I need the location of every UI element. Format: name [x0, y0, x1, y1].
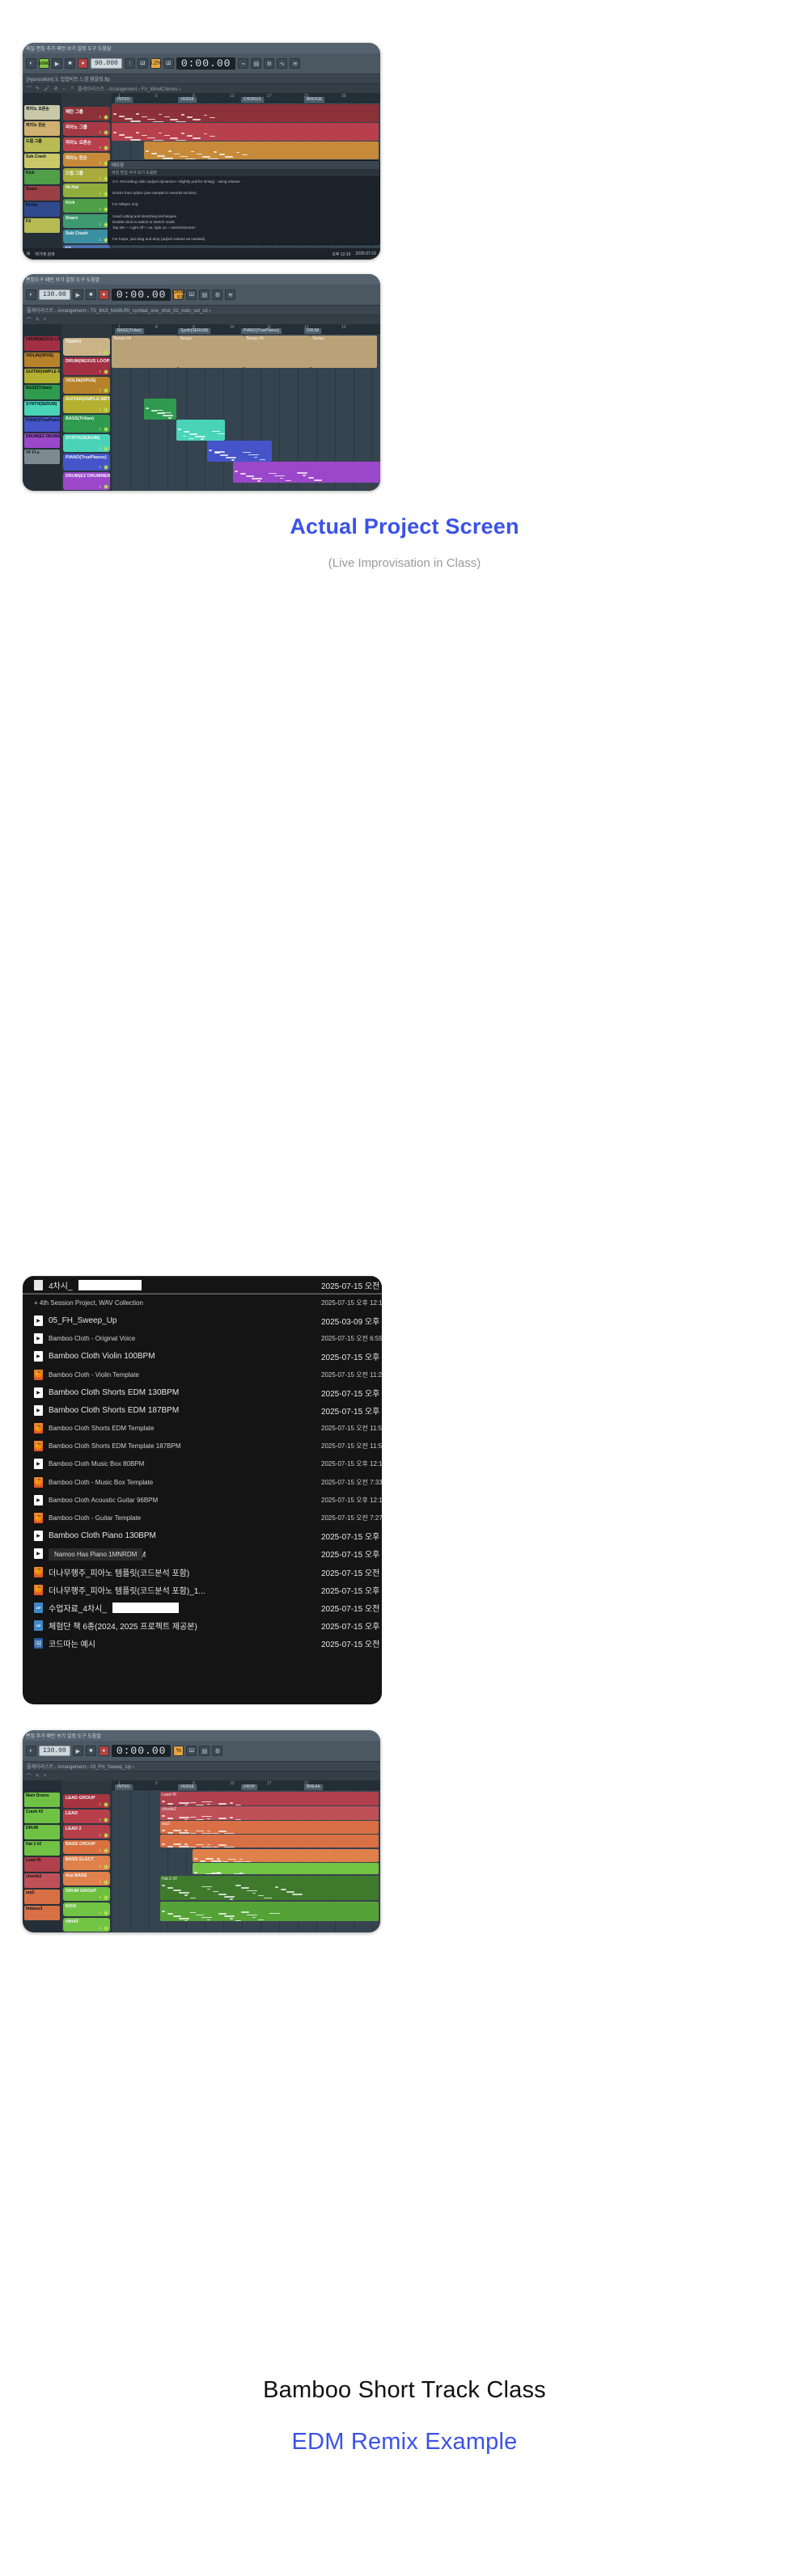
track-enable-led[interactable]	[104, 1927, 108, 1930]
channel-strip[interactable]: Main Drums	[24, 1793, 60, 1807]
track-enable-led[interactable]	[104, 485, 108, 488]
channel-label: Snare	[26, 187, 37, 192]
transport-bar-2[interactable]: ◐ 130.00 ▶ ■ ● 0:00.00 ORM 1.93 Ш ▤ ⚙ ≋	[23, 285, 380, 306]
arrangement-clip[interactable]: Lead #5	[160, 1792, 379, 1805]
png-file-icon: 🖼	[34, 1638, 43, 1649]
file-date-cell: 2025-07-15 오전 7:27	[321, 1514, 382, 1522]
taskbar-clock[interactable]: 오후 12:16	[332, 251, 350, 257]
track-enable-led[interactable]	[104, 146, 108, 150]
channel-label: PIANO(TruePianos)	[26, 418, 60, 423]
channel-label: Hat 2 #2	[26, 1842, 41, 1847]
arrangement-clip[interactable]	[193, 1849, 379, 1862]
song-mode-button[interactable]: SONG	[39, 58, 49, 69]
metronome-icon[interactable]: ↑	[125, 58, 135, 69]
clip-note-preview	[207, 446, 272, 461]
arrangement-clip[interactable]	[233, 462, 380, 483]
channel-strip[interactable]: Snare	[24, 186, 60, 201]
music-note-icon: ♪	[99, 238, 101, 243]
browser-icon[interactable]: ▤	[251, 58, 261, 69]
file-explorer-list[interactable]: 4차시_2025-07-15 오전 11:59Text Document23KB…	[23, 1276, 382, 1704]
file-row[interactable]: 🍊Bamboo Cloth Shorts EDM Template2025-07…	[23, 1420, 382, 1438]
notepad-title: 메모장	[112, 162, 124, 168]
zoom-icon-3[interactable]: ⌕	[44, 1773, 46, 1779]
file-row[interactable]: + 4th Session Project, WAV Collection202…	[23, 1294, 382, 1311]
windows-taskbar-1[interactable]: ⊞ 여기에 검색 오후 12:16 2025-07-15	[23, 248, 380, 260]
tempo-display[interactable]: 90.000	[91, 58, 122, 69]
track-header[interactable]: GUITAR(AMPLE METAL)♪	[63, 395, 110, 413]
track-enable-led[interactable]	[104, 1849, 108, 1852]
daw-screenshot-3: 편집 추가 패턴 보기 설정 도구 도움말 ◐ 130.00 ▶ ■ ● 0:0…	[23, 1730, 380, 1932]
channel-strip[interactable]: Kick	[24, 170, 60, 184]
track-header-label: DRUM GROUP	[66, 1889, 96, 1894]
zoom-icon-2[interactable]: ⌕	[44, 317, 46, 323]
arrangement-marker[interactable]: BASS(Trilian)	[115, 328, 145, 334]
music-note-icon: ♪	[99, 1818, 101, 1822]
arrangement-marker[interactable]: Synth(SERUM)	[178, 328, 211, 334]
file-row[interactable]: 🍊Bamboo Cloth - Music Box Template2025-0…	[23, 1473, 382, 1491]
file-name-cell[interactable]: Bamboo Cloth Shorts EDM 187BPM	[34, 1405, 321, 1416]
track-header[interactable]: Snare♪	[63, 214, 110, 228]
track-header[interactable]: Sub Crash♪	[63, 230, 110, 243]
channel-strip[interactable]: chords2	[24, 1873, 60, 1888]
file-name-cell[interactable]: 수업자료_4차시_	[34, 1602, 321, 1614]
arrangement-marker[interactable]: INTRO	[115, 97, 133, 103]
file-row[interactable]: Bamboo Cloth Shorts EDM 130BPM2025-07-15…	[23, 1383, 382, 1401]
file-row[interactable]: Bamboo Cloth Music Box 80BPM2025-07-15 오…	[23, 1455, 382, 1473]
arrangement-clip[interactable]	[112, 123, 379, 141]
arrangement-clip[interactable]: chords2	[160, 1806, 379, 1820]
arrangement-clip[interactable]	[207, 441, 272, 462]
arrangement-clip[interactable]	[144, 141, 379, 159]
track-enable-led[interactable]	[104, 447, 108, 450]
track-header[interactable]: LEAD 2♪	[63, 1825, 110, 1839]
file-row[interactable]: Bamboo Cloth Acoustic Guitar 96BPM2025-0…	[23, 1491, 382, 1509]
flp-file-icon: 🍊	[34, 1585, 43, 1595]
track-header-label: KICK	[66, 1904, 76, 1909]
arrangement-2[interactable]: 78910111213BASS(Trilian)Synth(SERUM)PIAN…	[112, 324, 380, 491]
arrangement-marker[interactable]: DROP	[241, 1784, 258, 1790]
arrangement-clip[interactable]	[193, 1863, 379, 1874]
channel-strip[interactable]: Hi-Hat	[24, 202, 60, 217]
file-row[interactable]: 체험단 책 6종(2024, 2025 프로젝트 제공본)2025-07-15 …	[23, 1617, 382, 1635]
music-note-icon: ♪	[99, 1911, 101, 1915]
file-name-label: 더나무행주_피아노 템플릿(코드분석 포함)	[49, 1566, 189, 1578]
file-name-label: Bamboo Cloth - Music Box Template	[49, 1479, 153, 1486]
file-row[interactable]: 🍊Bamboo Cloth - Violin Template2025-07-1…	[23, 1366, 382, 1383]
channel-strip[interactable]: VF Fl.o	[24, 450, 60, 464]
file-date-cell: 2025-07-15 오후 12:16	[321, 1496, 382, 1505]
playlist-breadcrumb-1[interactable]: ⌒ ✎ 🖌 ⊘ ↔ ⌕ 플레이리스트 - Arrangement › FX_Wi…	[23, 84, 380, 93]
track-header[interactable]: Arp BASS♪	[63, 1872, 110, 1886]
tempo-display-3[interactable]: 130.00	[39, 1746, 70, 1756]
stop-button[interactable]: ■	[65, 58, 75, 69]
stop-button-3[interactable]: ■	[86, 1746, 96, 1756]
track-header[interactable]: KICK♪	[63, 1902, 110, 1916]
file-name-cell[interactable]: 🍊더나무행주_피아노 템플릿(코드분석 포함)	[34, 1566, 321, 1578]
file-name-cell[interactable]: 🍊더나무행주_피아노 템플릿(코드분석 포함)_1...	[34, 1584, 321, 1596]
pattern-mode-icon[interactable]: ◐	[26, 58, 36, 69]
zip-file-icon	[34, 1620, 43, 1631]
channel-strip[interactable]: GUITAR(AMPLE METAL)	[24, 369, 60, 383]
file-date-cell: 2025-07-15 오후 12:16	[321, 1350, 382, 1362]
channel-strip[interactable]: BASS(Trilian)	[24, 385, 60, 399]
clip-note-preview	[160, 1812, 379, 1819]
file-name-cell[interactable]: Bamboo Cloth Piano 130BPM	[34, 1531, 321, 1541]
file-name-label: Bamboo Cloth Shorts EDM 187BPM	[49, 1406, 179, 1415]
pattern-mode-icon-2[interactable]: ◐	[26, 289, 36, 300]
caption-edm-remix-example: EDM Remix Example	[0, 2429, 809, 2456]
channel-strip[interactable]: 드럼 그룹	[24, 137, 60, 152]
music-note-icon: ♪	[99, 1880, 101, 1885]
record-button-3[interactable]: ●	[99, 1746, 109, 1756]
notepad-window[interactable]: 메모장 파일 편집 서식 보기 도움말 3-2. Recording violi…	[108, 160, 380, 245]
channel-strip[interactable]: 피아노 왼손	[24, 121, 60, 136]
channel-strip[interactable]: 피아노 오른손	[24, 105, 60, 120]
project-title-2: 플레이리스트 - Arrangement › TS_IMJI_MABURI_cy…	[27, 306, 210, 314]
file-row[interactable]: Bamboo Cloth - Original Voice2025-07-15 …	[23, 1330, 382, 1348]
arrangement-clip[interactable]	[176, 420, 225, 441]
track-enable-led[interactable]	[104, 351, 108, 354]
track-enable-led[interactable]	[104, 116, 108, 119]
file-name-cell[interactable]: 🍊Bamboo Cloth Shorts EDM Template	[34, 1423, 321, 1434]
file-name-cell[interactable]: Bamboo Cloth Violin 100BPM	[34, 1351, 321, 1362]
time-display-1: 0:00.00	[176, 57, 236, 70]
tempo-display-2[interactable]: 130.00	[39, 289, 70, 300]
file-name-cell[interactable]: Bamboo Cloth Acoustic Guitar 96BPM	[34, 1495, 321, 1505]
mixer-icon[interactable]: Ш	[163, 58, 174, 69]
magnet-icon[interactable]: ⌒	[27, 85, 32, 92]
arrangement-clip[interactable]: Hat 2 #2	[160, 1876, 379, 1900]
track-header[interactable]: 피아노 오른손♪	[63, 137, 110, 151]
track-header-label: DRUM(NEXUS LOOP)	[66, 359, 110, 364]
track-header[interactable]: BASS ELECT♪	[63, 1856, 110, 1869]
music-note-icon: ♪	[99, 465, 101, 470]
arrangement-clip[interactable]: Tempo #4	[112, 336, 178, 368]
menubar-labels: 파일 편집 추가 패턴 보기 설정 도구 도움말	[26, 44, 112, 52]
file-name-cell[interactable]: 체험단 책 6종(2024, 2025 프로젝트 제공본)	[34, 1620, 321, 1632]
plugin-icon[interactable]: ⚙	[264, 58, 274, 69]
channel-strip[interactable]: arp2	[24, 1890, 60, 1904]
caption-live-improvisation: (Live Improvisation in Class)	[0, 556, 809, 570]
file-date-cell: 2025-07-15 오후 12:03	[321, 1584, 382, 1596]
music-note-icon: ♪	[99, 1864, 101, 1869]
notepad-line	[112, 184, 375, 190]
channel-rack-1[interactable]: 피아노 오른손피아노 왼손드럼 그룹Sub CrashKickSnareHi-H…	[23, 93, 61, 260]
menubar-3[interactable]: 편집 추가 패턴 보기 설정 도구 도움말	[23, 1730, 380, 1741]
fx-icon[interactable]: ∿	[277, 58, 287, 69]
track-enable-led[interactable]	[104, 466, 108, 469]
clip-note-preview	[144, 404, 176, 419]
timeline-ruler-3[interactable]: 159131721INTROVERSEDROPBREAK	[112, 1780, 380, 1790]
arrangement-marker[interactable]: VERSE	[178, 97, 197, 103]
piano-roll-icon[interactable]: Ш	[138, 58, 148, 69]
wave-icon-2[interactable]: ≋	[225, 289, 235, 300]
channel-rack-2[interactable]: DRUM(NEXUS LOOP)VIOLIN(OPUS)GUITAR(AMPLE…	[23, 324, 61, 491]
music-note-icon: ♪	[99, 446, 101, 451]
track-header[interactable]: BASS(Trilian)♪	[63, 415, 110, 433]
arrangement-clip[interactable]: arp2	[160, 1821, 379, 1834]
music-note-icon: ♪	[99, 1926, 101, 1931]
channel-rack-3[interactable]: Main DrumsCrash #2DRUMHat 2 #2Lead #5cho…	[23, 1780, 61, 1932]
track-header[interactable]: TEMPO♪	[63, 338, 110, 356]
pencil-icon[interactable]: ✎	[36, 86, 40, 91]
arrangement-clip[interactable]	[112, 104, 379, 122]
clip-label: Tempo	[312, 336, 324, 341]
snap-icon[interactable]: ⌁	[238, 58, 248, 69]
arrangement-clip[interactable]	[144, 399, 176, 420]
music-note-icon: ♪	[99, 427, 101, 432]
gear-icon-3[interactable]: ⚙	[212, 1746, 222, 1756]
file-row[interactable]: 🍊Bamboo Cloth - Guitar Template2025-07-1…	[23, 1509, 382, 1527]
channel-strip[interactable]: PIANO(TruePianos)	[24, 417, 60, 432]
browser-icon-2[interactable]: ▤	[199, 289, 210, 300]
track-header[interactable]: DRUM(NEXUS LOOP)♪	[63, 357, 110, 375]
channel-label: Lead #5	[26, 1858, 41, 1863]
menubar-2[interactable]: 편집도구 패턴 보기 설정 도구 도움말	[23, 274, 380, 285]
track-enable-led[interactable]	[104, 428, 108, 431]
file-row[interactable]: Bamboo Cloth Violin 100BPM2025-07-15 오후 …	[23, 1348, 382, 1366]
music-note-icon: ♪	[99, 408, 101, 412]
file-date-cell: 2025-07-15 오전 11:21	[321, 1370, 382, 1379]
play-button-2[interactable]: ▶	[73, 289, 83, 300]
browser-icon-3[interactable]: ▤	[199, 1746, 210, 1756]
file-date-cell: 2025-07-15 오후 12:13	[321, 1548, 382, 1560]
track-header[interactable]: LEAD♪	[63, 1810, 110, 1823]
wav-file-icon	[34, 1548, 43, 1559]
channel-label: Hi-Hat	[26, 203, 38, 208]
music-note-icon: ♪	[99, 130, 101, 135]
daw-screenshot-1: 파일 편집 추가 패턴 보기 설정 도구 도움말 ◐ SONG ▶ ■ ● 90…	[23, 43, 380, 260]
notepad-line: Tap left — Light off + cut, light on = s…	[112, 225, 375, 230]
mute-icon[interactable]: ⊘	[54, 86, 58, 91]
file-name-cell[interactable]: Bamboo Cloth Music Box 80BPM	[34, 1459, 321, 1469]
menubar-1[interactable]: 파일 편집 추가 패턴 보기 설정 도구 도움말	[23, 43, 380, 53]
track-enable-led[interactable]	[104, 1896, 108, 1899]
track-headers-1[interactable]: 패턴 그룹♪피아노 그룹♪피아노 오른손♪피아노 왼손♪드럼 그룹♪Hi-Hat…	[61, 93, 112, 260]
arrangement-clip[interactable]	[160, 1835, 379, 1848]
track-enable-led[interactable]	[104, 370, 108, 374]
channel-strip[interactable]: DRUM(EZ DRUMMER3)	[24, 433, 60, 448]
clip-note-preview	[160, 1907, 379, 1920]
track-header[interactable]: HIHAT♪	[63, 1918, 110, 1932]
channel-label: DRUM	[26, 1826, 38, 1831]
track-headers-3[interactable]: LEAD GROUP♪LEAD♪LEAD 2♪BASS GROUP♪BASS E…	[61, 1780, 112, 1932]
arrangement-clip[interactable]: Tempo	[178, 336, 244, 368]
clip-label: Tempo #4	[113, 336, 131, 341]
track-header[interactable]: 피아노 왼손♪	[63, 153, 110, 167]
wav-file-icon	[34, 1495, 43, 1505]
magnet-icon-2[interactable]: ⌒	[27, 316, 32, 323]
file-name-cell[interactable]: 🍊Bamboo Cloth - Guitar Template	[34, 1513, 321, 1523]
track-header-label: 드럼 그룹	[66, 171, 83, 176]
file-name-label: Bamboo Cloth Shorts EDM Template 187BPM	[49, 1442, 180, 1450]
track-enable-led[interactable]	[104, 1803, 108, 1806]
file-row[interactable]: 🍊더나무행주_피아노 템플릿(코드분석 포함)2025-07-15 오전 10:…	[23, 1563, 382, 1581]
music-note-icon: ♪	[99, 370, 101, 374]
timeline-ruler-2[interactable]: 78910111213BASS(Trilian)Synth(SERUM)PIAN…	[112, 324, 380, 334]
track-enable-led[interactable]	[104, 1911, 108, 1915]
paint-icon[interactable]: 🖌	[44, 86, 50, 91]
file-name-label: Bamboo Cloth Shorts EDM Template	[49, 1425, 155, 1432]
notepad-menubar[interactable]: 파일 편집 서식 보기 도움말	[108, 169, 379, 176]
channel-strip[interactable]: SYNTH(SERUM)	[24, 401, 60, 416]
play-button[interactable]: ▶	[52, 58, 62, 69]
record-button-2[interactable]: ●	[99, 289, 109, 300]
transport-bar-3[interactable]: ◐ 130.00 ▶ ■ ● 0:00.00 % Ш ▤ ⚙	[23, 1741, 380, 1762]
arrangement-marker[interactable]: VERSE	[178, 1784, 197, 1790]
file-name-label: 4차시_	[49, 1279, 73, 1291]
file-date-cell: 2025-03-09 오후 3:57	[321, 1315, 382, 1327]
breadcrumb-1: 플레이리스트 - Arrangement › FX_WindChimes ›	[78, 85, 180, 92]
notepad-line: Double-click to switch to stretch mode	[112, 219, 375, 225]
channel-label: Kick	[26, 171, 35, 175]
ruler-tick: 8	[155, 325, 158, 330]
wav-file-icon	[34, 1531, 43, 1541]
play-button-3[interactable]: ▶	[73, 1746, 83, 1756]
notepad-line: 3-2. Recording violin (adjust dynamics—s…	[112, 179, 375, 184]
slip-icon[interactable]: ↔	[62, 87, 67, 91]
magnet-icon-3[interactable]: ⌒	[27, 1772, 32, 1780]
arrangement-marker[interactable]: BREAK	[304, 1784, 324, 1790]
channel-label: DRUM(NEXUS LOOP)	[26, 337, 60, 342]
notepad-titlebar[interactable]: 메모장	[108, 161, 379, 169]
channel-strip[interactable]: Hat 2 #2	[24, 1841, 60, 1856]
track-enable-led[interactable]	[104, 408, 108, 412]
mixer-icon-3[interactable]: Ш	[186, 1746, 197, 1756]
track-header-label: DRUM(EZ DRUMMER3)	[66, 474, 110, 479]
transport-bar-1[interactable]: ◐ SONG ▶ ■ ● 90.000 ↑ Ш 3.2% Ш 0:00.00 ⌁…	[23, 53, 380, 74]
music-note-icon: ♪	[99, 484, 101, 489]
track-header[interactable]: PIANO(TruePianos)♪	[63, 454, 110, 471]
start-icon[interactable]: ⊞	[27, 251, 30, 256]
channel-label: DRUM(EZ DRUMMER3)	[26, 434, 60, 439]
file-name-cell[interactable]: + 4th Session Project, WAV Collection	[34, 1299, 321, 1307]
channel-strip[interactable]: Crash #2	[24, 1809, 60, 1823]
track-enable-led[interactable]	[104, 1834, 108, 1837]
wave-icon[interactable]: ≋	[290, 58, 300, 69]
caption-bamboo-short-track-class: Bamboo Short Track Class	[0, 2377, 809, 2404]
track-header[interactable]: VIOLIN(OPUS)♪	[63, 377, 110, 395]
track-header[interactable]: Kick♪	[63, 199, 110, 213]
track-enable-led[interactable]	[104, 1881, 108, 1884]
pencil-icon-3[interactable]: ✎	[36, 1773, 40, 1779]
arrangement-marker[interactable]: DRUM	[304, 328, 322, 334]
track-header[interactable]: BASS GROUP♪	[63, 1840, 110, 1854]
taskbar-search[interactable]: 여기에 검색	[35, 251, 54, 257]
file-date-cell: 2025-07-15 오후 12:16	[321, 1404, 382, 1417]
wav-file-icon	[34, 1333, 43, 1344]
file-row[interactable]: 🖼코드따는 예시2025-07-15 오전 7:37PNG 파일701KB	[23, 1635, 382, 1653]
channel-strip[interactable]: DRUM(NEXUS LOOP)	[24, 336, 60, 351]
file-row[interactable]: Bamboo Cloth Shorts EDM 187BPM2025-07-15…	[23, 1401, 382, 1419]
file-row[interactable]: 수업자료_4차시_2025-07-15 오전 10:13압축(ZIP) 파일18…	[23, 1598, 382, 1616]
file-name-cell[interactable]: 🍊Bamboo Cloth - Music Box Template	[34, 1477, 321, 1488]
file-name-label: 더나무행주_피아노 템플릿(코드분석 포함)_1...	[49, 1584, 205, 1596]
track-header-label: 피아노 오른손	[66, 141, 91, 146]
file-row[interactable]: Bamboo Cloth Piano 130BPM2025-07-15 오후 1…	[23, 1527, 382, 1545]
arrangement-marker[interactable]: BRIDGE	[304, 97, 325, 103]
arrangement-marker[interactable]: INTRO	[115, 1784, 133, 1790]
zoom-icon[interactable]: ⌕	[71, 86, 74, 91]
channel-strip[interactable]: DRUM	[24, 1825, 60, 1839]
clip-note-preview	[160, 1826, 379, 1833]
arrangement-marker[interactable]: CHORUS	[241, 97, 265, 103]
track-enable-led[interactable]	[104, 1865, 108, 1869]
file-name-label: + 4th Session Project, WAV Collection	[34, 1299, 143, 1307]
file-date-cell: 2025-07-15 오후 12:13	[321, 1459, 382, 1468]
gear-icon-2[interactable]: ⚙	[212, 289, 222, 300]
stop-button-2[interactable]: ■	[86, 289, 96, 300]
arrangement-clip[interactable]	[160, 1902, 379, 1921]
mixer-icon-2[interactable]: Ш	[186, 289, 197, 300]
track-header[interactable]: 드럼 그룹♪	[63, 168, 110, 182]
channel-strip[interactable]: FX	[24, 218, 60, 233]
track-header[interactable]: DRUM GROUP♪	[63, 1887, 110, 1901]
pattern-mode-icon-3[interactable]: ◐	[26, 1746, 36, 1756]
record-button[interactable]: ●	[78, 58, 88, 69]
channel-strip[interactable]: Sub Crash	[24, 154, 60, 168]
arrangement-3[interactable]: 159131721INTROVERSEDROPBREAK Lead #5chor…	[112, 1780, 380, 1932]
file-row[interactable]: 🍊더나무행주_피아노 템플릿(코드분석 포함)_1...2025-07-15 오…	[23, 1581, 382, 1598]
file-row[interactable]: 4차시_2025-07-15 오전 11:59Text Document23KB	[23, 1276, 382, 1294]
clip-note-preview	[176, 425, 225, 440]
file-name-cell[interactable]: 05_FH_Sweep_Up	[34, 1315, 321, 1326]
arrangement-clip[interactable]: Tempo #5	[244, 336, 311, 368]
music-note-icon: ♪	[99, 350, 101, 355]
track-enable-led[interactable]	[104, 1818, 108, 1822]
file-date-cell: 2025-07-15 오후 12:01	[321, 1620, 382, 1632]
track-header[interactable]: 피아노 그룹♪	[63, 122, 110, 136]
file-row[interactable]: 05_FH_Sweep_Up2025-03-09 오후 3:57WAV File…	[23, 1311, 382, 1329]
channel-strip[interactable]: VIOLIN(OPUS)	[24, 353, 60, 367]
track-header[interactable]: Hi-Hat♪	[63, 184, 110, 197]
playlist-toolbar-3[interactable]: ⌒ ✎ ⌕	[23, 1772, 380, 1780]
file-name-cell[interactable]: Bamboo Cloth Shorts EDM 130BPM	[34, 1387, 321, 1398]
track-header[interactable]: DRUM(EZ DRUMMER3)♪	[63, 472, 110, 490]
playlist-toolbar-2[interactable]: ⌒ ✎ ⌕	[23, 315, 380, 324]
file-row[interactable]: 🍊Bamboo Cloth Shorts EDM Template 187BPM…	[23, 1438, 382, 1455]
wav-file-icon	[34, 1459, 43, 1469]
arrangement-marker[interactable]: PIANO(TruePianos)	[241, 328, 282, 334]
txt-file-icon	[34, 1280, 43, 1290]
music-note-icon: ♪	[99, 161, 101, 166]
track-header[interactable]: LEAD GROUP♪	[63, 1794, 110, 1808]
file-name-cell[interactable]: 🍊Bamboo Cloth - Violin Template	[34, 1370, 321, 1380]
track-header[interactable]: SYNTH(SERUM)♪	[63, 434, 110, 452]
track-enable-led[interactable]	[104, 389, 108, 392]
zip-file-icon	[34, 1603, 43, 1613]
channel-strip[interactable]: Lead #5	[24, 1857, 60, 1872]
track-header[interactable]: 패턴 그룹♪	[63, 107, 110, 120]
wav-file-icon	[34, 1351, 43, 1362]
channel-strip[interactable]: fmbass3	[24, 1906, 60, 1920]
file-name-cell[interactable]: Bamboo Cloth - Original Voice	[34, 1333, 321, 1344]
arrangement-clip[interactable]: Tempo	[311, 336, 377, 368]
redaction-block	[78, 1280, 142, 1290]
track-enable-led[interactable]	[104, 131, 108, 134]
pencil-icon-2[interactable]: ✎	[36, 317, 40, 323]
music-note-icon: ♪	[99, 146, 101, 150]
wav-file-icon	[34, 1405, 43, 1416]
file-name-cell[interactable]: 4차시_	[34, 1279, 321, 1291]
music-note-icon: ♪	[99, 1802, 101, 1807]
redaction-block	[112, 1603, 179, 1613]
timeline-ruler-1[interactable]: 15913172125INTROVERSECHORUSBRIDGE	[112, 93, 380, 103]
file-name-cell[interactable]: 🍊Bamboo Cloth Shorts EDM Template 187BPM	[34, 1441, 321, 1451]
file-name-cell[interactable]: 🖼코드따는 예시	[34, 1637, 321, 1649]
channel-label: BASS(Trilian)	[26, 386, 52, 391]
track-headers-2[interactable]: TEMPO♪DRUM(NEXUS LOOP)♪VIOLIN(OPUS)♪GUIT…	[61, 324, 112, 491]
